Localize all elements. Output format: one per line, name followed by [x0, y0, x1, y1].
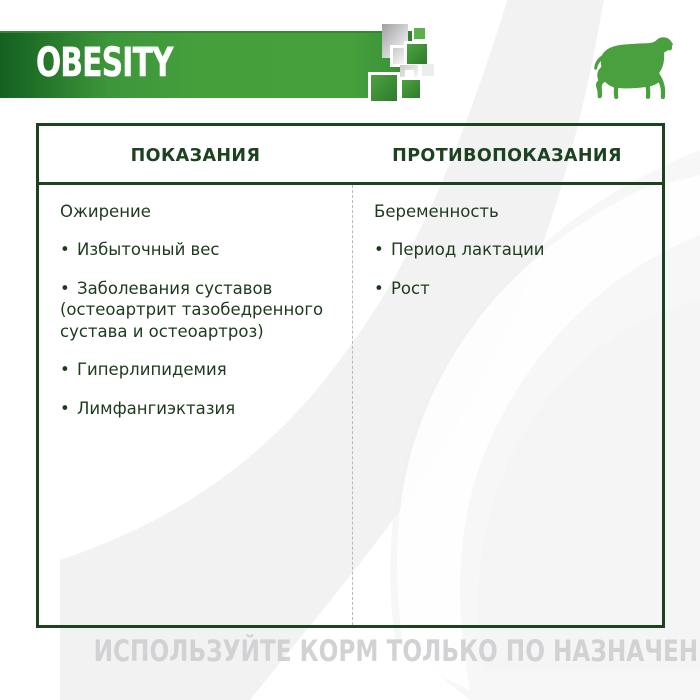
info-table: ПОКАЗАНИЯ ПРОТИВОПОКАЗАНИЯ Ожирение • Из… [36, 123, 665, 628]
list-item-label: Заболевания суставов (остеоартрит тазобе… [60, 279, 323, 341]
header-banner: OBESITY [0, 31, 430, 98]
list-item: • Заболевания суставов (остеоартрит тазо… [60, 278, 346, 342]
bullet-glyph: • [60, 399, 70, 418]
bullet-glyph: • [374, 240, 384, 259]
bullet-glyph: • [374, 279, 384, 298]
column-header-contraindications: ПРОТИВОПОКАЗАНИЯ [352, 126, 662, 185]
page-title-text: OBESITY [36, 40, 173, 86]
list-item: • Период лактации [374, 239, 654, 260]
list-item: • Избыточный вес [60, 239, 346, 260]
bullet-glyph: • [60, 360, 70, 379]
indications-lead: Ожирение [60, 201, 346, 222]
bullet-glyph: • [60, 279, 70, 298]
dog-silhouette-icon [583, 30, 679, 102]
list-item-label: Гиперлипидемия [77, 360, 227, 379]
list-item: • Лимфангиэктазия [60, 398, 346, 419]
cell-indications: Ожирение • Избыточный вес • Заболевания … [39, 185, 352, 436]
table-body: Ожирение • Избыточный вес • Заболевания … [39, 185, 662, 625]
list-item-label: Период лактации [391, 240, 545, 259]
table-header-row: ПОКАЗАНИЯ ПРОТИВОПОКАЗАНИЯ [39, 126, 662, 185]
list-item: • Рост [374, 278, 654, 299]
list-item: • Гиперлипидемия [60, 359, 346, 380]
decorative-squares-icon [368, 24, 458, 106]
page-title: OBESITY [36, 41, 221, 87]
footer-note-text: ИСПОЛЬЗУЙТЕ КОРМ ТОЛЬКО ПО НАЗНАЧЕНИЮ ВР… [94, 634, 700, 668]
cell-contraindications: Беременность • Период лактации • Рост [352, 185, 662, 316]
bullet-glyph: • [60, 240, 70, 259]
list-item-label: Избыточный вес [77, 240, 220, 259]
contraindications-lead: Беременность [374, 201, 654, 222]
list-item-label: Лимфангиэктазия [77, 399, 235, 418]
list-item-label: Рост [391, 279, 430, 298]
footer-note: ИСПОЛЬЗУЙТЕ КОРМ ТОЛЬКО ПО НАЗНАЧЕНИЮ ВР… [0, 634, 700, 668]
column-header-indications: ПОКАЗАНИЯ [39, 126, 352, 185]
